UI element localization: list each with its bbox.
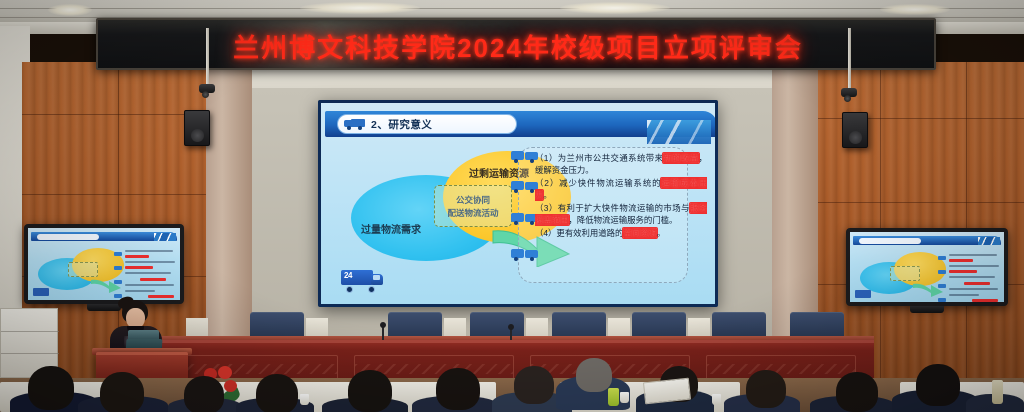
monitor-stand xyxy=(910,306,944,313)
slide-corner-graphic xyxy=(647,120,711,144)
van-badge: 24 xyxy=(344,271,352,280)
camera-lens-icon xyxy=(844,95,851,102)
venn-overlap-box: 公交协同 配送物流活动 xyxy=(434,185,512,227)
ceiling-seam xyxy=(0,8,1024,9)
conference-room-photo: 兰州博文科技学院2024年校级项目立项评审会 2、研究意义 过剩运输资源 xyxy=(0,0,1024,412)
audience-member-head xyxy=(836,372,878,412)
camera-mount-rod xyxy=(206,28,209,86)
paper-cup xyxy=(300,394,309,405)
bullet-item: （2）减少快件物流运输系统的运输成本压力。 xyxy=(535,178,707,202)
highlight: 新的收益 xyxy=(663,153,698,163)
camera-lens-icon xyxy=(202,91,209,98)
delivery-van-icon: 24 xyxy=(341,268,385,294)
bullet-item: （4）更有效利用道路的空间资源。 xyxy=(535,228,707,240)
left-mirror-monitor xyxy=(24,224,184,304)
ceiling-light xyxy=(300,2,420,14)
ceiling-light xyxy=(48,4,92,16)
water-bottle xyxy=(992,380,1003,404)
audience-member-head xyxy=(436,368,480,410)
slide-title-bar: 2、研究意义 xyxy=(325,111,715,137)
microphone-head-icon xyxy=(508,324,514,330)
audience-member-head xyxy=(916,364,960,406)
ceiling-light xyxy=(880,4,950,15)
audience-member-head xyxy=(256,374,298,412)
venn-label-demand: 过量物流需求 xyxy=(361,221,421,236)
bullet-item: （3）有利于扩大快件物流运输的市场与服务覆盖范围，降低物流运输服务的门槛。 xyxy=(535,203,707,227)
beverage-bottle xyxy=(608,388,619,406)
overlap-line-2: 配送物流活动 xyxy=(447,207,498,219)
slide-title-pill: 2、研究意义 xyxy=(337,114,517,134)
truck-icon xyxy=(344,119,366,130)
right-mirror-monitor xyxy=(846,228,1008,306)
mini-bus-icon xyxy=(511,249,539,261)
banner-text: 兰州博文科技学院2024年校级项目立项评审会 xyxy=(98,20,936,70)
audience-member-head xyxy=(514,366,554,404)
right-monitor-slide xyxy=(850,232,1004,302)
microphone-head-icon xyxy=(380,322,386,328)
paper-cup xyxy=(712,394,721,405)
left-monitor-slide xyxy=(28,228,180,300)
camera-mount-rod xyxy=(848,28,851,90)
audience-member-head xyxy=(184,376,224,412)
bullet-item: （1）为兰州市公共交通系统带来新的收益，缓解资金压力。 xyxy=(535,153,707,177)
audience-member-head xyxy=(576,358,612,392)
paper-cup xyxy=(620,392,629,403)
pillar-left xyxy=(206,26,252,386)
projection-screen: 2、研究意义 过剩运输资源 过量物流需求 公交协同 配送物流活动 24 xyxy=(318,100,718,307)
desk-microphone xyxy=(382,326,384,340)
audience-member-head xyxy=(28,366,74,410)
audience-member-head xyxy=(100,372,144,412)
overlap-line-1: 公交协同 xyxy=(456,194,490,206)
led-banner: 兰州博文科技学院2024年校级项目立项评审会 xyxy=(96,18,936,70)
audience-member-head xyxy=(348,370,392,412)
slide-bullet-list: （1）为兰州市公共交通系统带来新的收益，缓解资金压力。 （2）减少快件物流运输系… xyxy=(535,153,707,240)
highlight: 空间资源 xyxy=(623,228,657,238)
audience-member-head xyxy=(746,370,786,408)
presentation-slide: 2、研究意义 过剩运输资源 过量物流需求 公交协同 配送物流活动 24 xyxy=(321,103,715,304)
ceiling-light xyxy=(560,2,670,14)
slide-title: 2、研究意义 xyxy=(371,117,432,132)
wall-speaker xyxy=(842,112,868,148)
wall-speaker xyxy=(184,110,210,146)
